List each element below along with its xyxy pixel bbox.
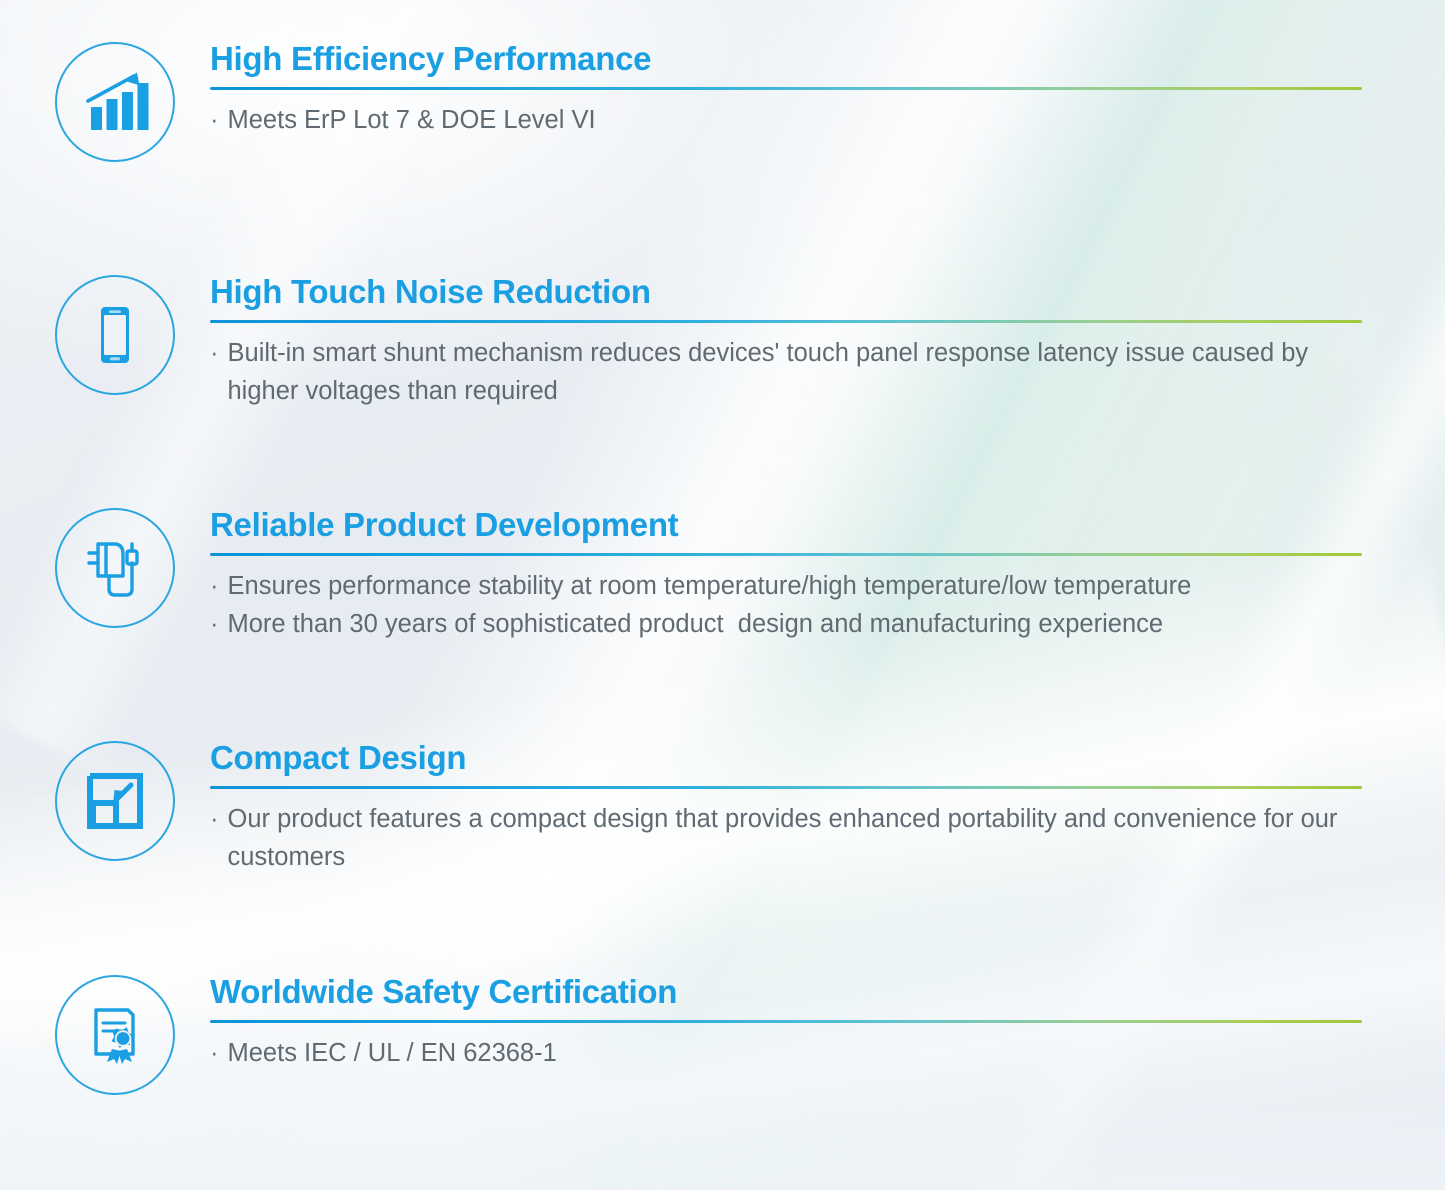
feature-divider [210, 786, 1362, 789]
compact-resize-icon [55, 741, 175, 861]
bullet-marker: · [210, 335, 219, 372]
feature-title: Reliable Product Development [210, 508, 1370, 542]
feature-text-column: High Touch Noise Reduction · Built-in sm… [210, 275, 1370, 410]
bullet-text: Meets ErP Lot 7 & DOE Level VI [228, 102, 596, 139]
feature-text-column: Compact Design · Our product features a … [210, 741, 1370, 876]
bullet-marker: · [210, 1035, 219, 1072]
list-item: · Ensures performance stability at room … [210, 568, 1370, 605]
bullet-text: Our product features a compact design th… [228, 801, 1371, 875]
feature-highlights-page: High Efficiency Performance · Meets ErP … [0, 0, 1445, 1190]
feature-bullets: · Built-in smart shunt mechanism reduces… [210, 335, 1370, 409]
bullet-text: Meets IEC / UL / EN 62368-1 [228, 1035, 557, 1072]
feature-icon-wrapper [52, 975, 178, 1095]
list-item: · Built-in smart shunt mechanism reduces… [210, 335, 1370, 409]
feature-item-reliable-product-development: Reliable Product Development · Ensures p… [0, 508, 1370, 643]
bullet-marker: · [210, 801, 219, 838]
smartphone-icon [55, 275, 175, 395]
bullet-text: Built-in smart shunt mechanism reduces d… [228, 335, 1371, 409]
feature-bullets: · Our product features a compact design … [210, 801, 1370, 875]
certificate-award-icon [55, 975, 175, 1095]
feature-item-high-efficiency-performance: High Efficiency Performance · Meets ErP … [0, 42, 1370, 162]
feature-divider [210, 320, 1362, 323]
feature-divider [210, 1020, 1362, 1023]
power-adapter-icon [55, 508, 175, 628]
list-item: · More than 30 years of sophisticated pr… [210, 606, 1370, 643]
feature-bullets: · Meets IEC / UL / EN 62368-1 [210, 1035, 1370, 1072]
feature-icon-wrapper [52, 741, 178, 861]
feature-item-worldwide-safety-certification: Worldwide Safety Certification · Meets I… [0, 975, 1370, 1095]
feature-item-compact-design: Compact Design · Our product features a … [0, 741, 1370, 876]
feature-title: Compact Design [210, 741, 1370, 775]
list-item: · Meets IEC / UL / EN 62368-1 [210, 1035, 1370, 1072]
bullet-marker: · [210, 568, 219, 605]
bullet-marker: · [210, 606, 219, 643]
bullet-text: Ensures performance stability at room te… [228, 568, 1192, 605]
feature-icon-wrapper [52, 508, 178, 628]
feature-bullets: · Ensures performance stability at room … [210, 568, 1370, 642]
feature-text-column: Reliable Product Development · Ensures p… [210, 508, 1370, 643]
feature-title: Worldwide Safety Certification [210, 975, 1370, 1009]
feature-divider [210, 553, 1362, 556]
feature-title: High Efficiency Performance [210, 42, 1370, 76]
bar-chart-growth-icon [55, 42, 175, 162]
feature-icon-wrapper [52, 42, 178, 162]
feature-text-column: High Efficiency Performance · Meets ErP … [210, 42, 1370, 140]
feature-item-high-touch-noise-reduction: High Touch Noise Reduction · Built-in sm… [0, 275, 1370, 410]
list-item: · Meets ErP Lot 7 & DOE Level VI [210, 102, 1370, 139]
bullet-text: More than 30 years of sophisticated prod… [228, 606, 1164, 643]
feature-divider [210, 87, 1362, 90]
feature-title: High Touch Noise Reduction [210, 275, 1370, 309]
feature-text-column: Worldwide Safety Certification · Meets I… [210, 975, 1370, 1073]
feature-bullets: · Meets ErP Lot 7 & DOE Level VI [210, 102, 1370, 139]
list-item: · Our product features a compact design … [210, 801, 1370, 875]
bullet-marker: · [210, 102, 219, 139]
feature-icon-wrapper [52, 275, 178, 395]
